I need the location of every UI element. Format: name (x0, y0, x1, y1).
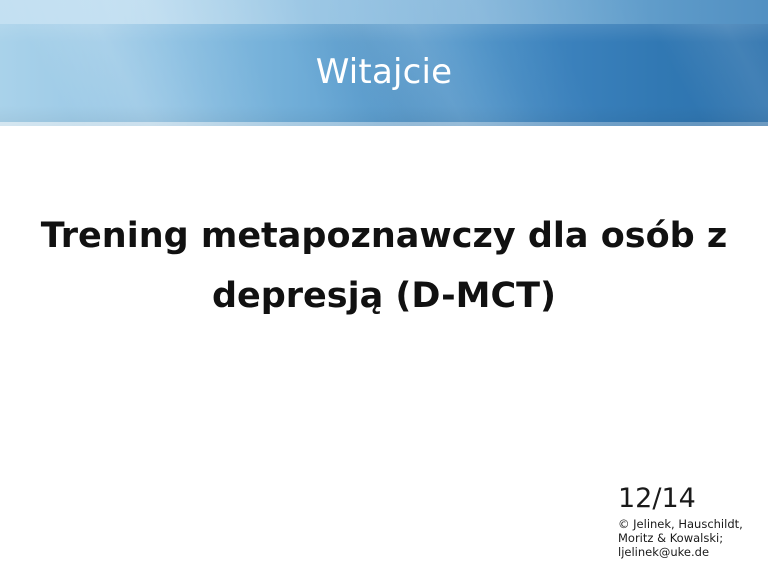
banner-top-streaks (0, 0, 768, 24)
credit-line-3: ljelinek@uke.de (618, 545, 740, 559)
credit-line-2: Moritz & Kowalski; (618, 531, 740, 545)
slide-body-line-2: depresją (D-MCT) (34, 266, 734, 326)
slide-footer: 12/14 © Jelinek, Hauschildt, Moritz & Ko… (480, 484, 740, 559)
presentation-slide: Witajcie Trening metapoznawczy dla osób … (0, 0, 768, 576)
slide-body-line-1: Trening metapoznawczy dla osób z (34, 206, 734, 266)
credit-block: © Jelinek, Hauschildt, Moritz & Kowalski… (480, 514, 740, 559)
slide-title: Witajcie (0, 52, 768, 92)
credit-line-1: © Jelinek, Hauschildt, (618, 517, 740, 531)
slide-header-banner: Witajcie (0, 0, 768, 126)
banner-bottom-highlight-line (0, 122, 768, 126)
slide-body: Trening metapoznawczy dla osób z depresj… (34, 206, 734, 326)
page-number: 12/14 (480, 484, 740, 514)
